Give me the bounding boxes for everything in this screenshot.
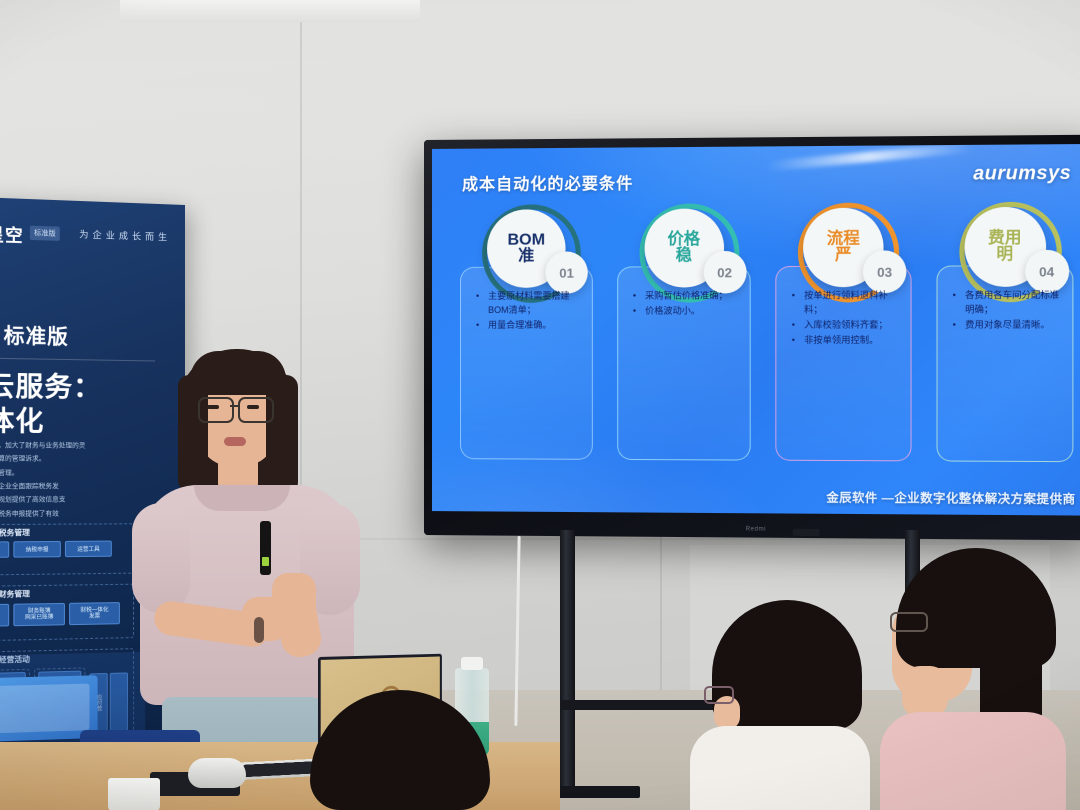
computer-mouse[interactable] xyxy=(188,758,246,788)
diagram-box: 财务账簿 网采已账簿 xyxy=(13,603,65,626)
bullet-item: 采购暂估价格准确； xyxy=(645,289,739,303)
banner-body-line: 覆盖中国主要税务发票的管理。 xyxy=(0,466,145,480)
audience-member-left xyxy=(300,690,500,810)
banner-body-line: 发票管理风险，并为税务规划提供了高效信息支 xyxy=(0,493,145,507)
presenter-hair-right xyxy=(266,375,298,499)
presenter-eye-right xyxy=(247,405,259,409)
card-bullets: 主要原材料需要搭建BOM清单； 用量合理准确。 xyxy=(475,290,581,334)
bullet-item: 各费用各车间分配标准明确； xyxy=(965,289,1062,318)
tv-screen: 成本自动化的必要条件 aurumsys BOM 准 01 xyxy=(432,144,1080,516)
diagram-arrow-up: ▲ xyxy=(0,571,2,583)
banner-brand: 星空 xyxy=(0,220,24,247)
audience-member-right xyxy=(870,548,1080,810)
diagram-section-title: 财务管理 xyxy=(0,588,30,600)
card-heading-line1: BOM xyxy=(507,232,545,249)
television: Redmi 成本自动化的必要条件 aurumsys BOM 准 xyxy=(424,135,1080,541)
banner-brand-badge: 标准版 xyxy=(30,226,60,241)
audience-top xyxy=(690,726,870,810)
audience-hand xyxy=(902,666,948,718)
card-heading-line2: 准 xyxy=(518,249,534,265)
card-heading-line1: 流程 xyxy=(827,231,860,248)
slide-footer: 金辰软件 —企业数字化整体解决方案提供商 xyxy=(826,488,1075,507)
banner-tagline: 为企业成长而生 xyxy=(79,227,171,243)
presenter-sleeve-left xyxy=(132,503,190,613)
banner-product-suffix: 标准版 xyxy=(4,325,69,349)
banner-headline-line2: 税一体化 xyxy=(0,404,102,440)
screenshot-scene: Redmi 成本自动化的必要条件 aurumsys BOM 准 xyxy=(0,0,1080,810)
diagram-box: 纳税申报 xyxy=(13,541,61,558)
presenter-bracelet xyxy=(254,617,264,643)
bullet-item: 非按单领用控制。 xyxy=(804,334,900,348)
card-bullets: 采购暂估价格准确； 价格波动小。 xyxy=(632,289,740,319)
bullet-item: 按单进行领料退料补料； xyxy=(804,289,900,317)
card-heading-line2: 明 xyxy=(996,247,1013,264)
card-heading-line1: 价格 xyxy=(667,232,700,249)
bullet-item: 主要原材料需要搭建BOM清单； xyxy=(488,290,581,318)
glasses-bridge xyxy=(230,405,238,407)
banner-body-text: 规了财务与业务的独立性，加大了财务与业务处理的灵 务随时发生、财务随时核算的管理… xyxy=(0,438,145,521)
diagram-arrow-up: ▲ xyxy=(0,635,2,648)
diagram-box: 一键认证 xyxy=(0,541,9,558)
diagram-box: 财税一体化 发票 xyxy=(69,602,120,625)
slide-card: 费用 明 04 各费用各车间分配标准明确； 费用对象尽量清晰。 xyxy=(936,265,1073,462)
slide-card: BOM 准 01 主要原材料需要搭建BOM清单； 用量合理准确。 xyxy=(460,267,592,460)
audience-top xyxy=(880,712,1066,810)
presenter-remote-led xyxy=(262,557,269,566)
presenter-hair-left xyxy=(178,375,208,495)
tv-stand-post-left xyxy=(560,530,575,792)
banner-diagram: 税务管理 票 一键认证 纳税申报 运营工具 ▲ 财务管理 成本 智能记账 财务账… xyxy=(0,523,138,524)
slide-card-row: BOM 准 01 主要原材料需要搭建BOM清单； 用量合理准确。 xyxy=(460,265,1073,462)
card-heading-line2: 稳 xyxy=(676,248,692,265)
paper-cup xyxy=(108,778,160,810)
banner-headline-line1: 财务云服务： xyxy=(0,369,102,406)
audience-glasses xyxy=(890,612,928,632)
aurumsys-logo: aurumsys xyxy=(973,163,1071,186)
banner-body-line: 规了财务与业务的独立性，加大了财务与业务处理的灵 xyxy=(0,438,145,453)
diagram-box: 运营工具 xyxy=(65,541,112,558)
presenter-mouth xyxy=(224,437,246,446)
card-bullets: 按单进行领料退料补料； 入库校验领料齐套； 非按单领用控制。 xyxy=(791,289,900,349)
card-badge: 03 xyxy=(863,250,906,293)
diagram-box: 智能记账 xyxy=(0,604,9,627)
banner-body-line: 应付单的自动核销，帮助企业全面跟踪税务发 xyxy=(0,480,145,494)
presenter-hand-left xyxy=(242,597,288,641)
glasses-frame-right xyxy=(238,397,274,423)
banner-body-line: 的时接，为高效、准确的税务申报提供了有效 xyxy=(0,507,145,521)
diagram-section-title: 税务管理 xyxy=(0,527,30,538)
banner-body-line: 务随时发生、财务随时核算的管理诉求。 xyxy=(0,452,145,466)
slide-title: 成本自动化的必要条件 xyxy=(462,170,633,195)
card-badge: 01 xyxy=(545,251,587,293)
card-bullets: 各费用各车间分配标准明确； 费用对象尽量清晰。 xyxy=(952,289,1062,334)
card-heading-line1: 费用 xyxy=(988,230,1021,247)
audience-glasses xyxy=(704,686,734,704)
bullet-item: 用量合理准确。 xyxy=(488,319,581,333)
presenter-collar xyxy=(194,485,290,511)
card-badge: 04 xyxy=(1025,250,1069,293)
tv-ir-sensor xyxy=(793,529,820,536)
banner-headline: 财务云服务： 税一体化 xyxy=(0,369,102,440)
ceiling-light xyxy=(120,0,420,22)
glasses-frame-left xyxy=(198,397,234,423)
slide-card: 价格 稳 02 采购暂估价格准确； 价格波动小。 xyxy=(617,266,751,461)
bullet-item: 价格波动小。 xyxy=(645,305,739,319)
slide-card: 流程 严 03 按单进行领料退料补料； 入库校验领料齐套； 非按单领用控制。 xyxy=(775,266,911,462)
artwork-screen-inner xyxy=(0,684,89,734)
banner-product-name: · 星空 标准版 xyxy=(0,318,69,350)
card-badge: 02 xyxy=(703,251,746,294)
bullet-item: 费用对象尽量清晰。 xyxy=(965,318,1062,332)
presenter-remote[interactable] xyxy=(260,521,271,575)
tv-brand-label: Redmi xyxy=(746,526,766,532)
presentation-slide: 成本自动化的必要条件 aurumsys BOM 准 01 xyxy=(432,144,1080,516)
bullet-item: 入库校验领料齐套； xyxy=(804,319,900,333)
audience-hair xyxy=(310,690,490,810)
presenter-eye-left xyxy=(207,405,219,409)
card-heading-line2: 严 xyxy=(835,247,852,264)
